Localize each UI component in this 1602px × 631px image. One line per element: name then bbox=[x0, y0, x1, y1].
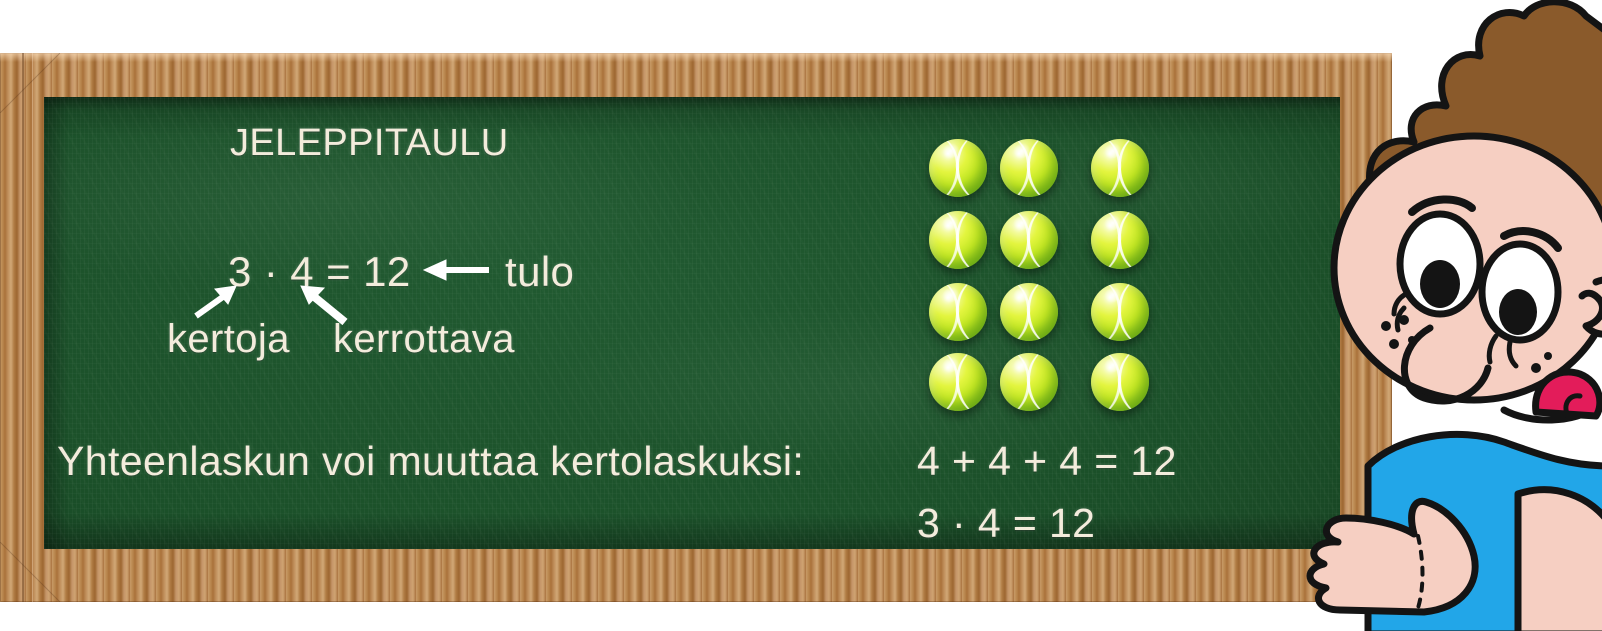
boy-pupil-right bbox=[1499, 289, 1537, 335]
boy-pupil-left bbox=[1420, 260, 1460, 308]
tennis-ball-icon bbox=[1000, 353, 1058, 411]
tennis-ball-icon bbox=[929, 283, 987, 341]
tennis-ball-icon bbox=[929, 353, 987, 411]
slide-canvas: JELEPPITAULU 3 · 4 = 12 tulo kertoja ker… bbox=[0, 0, 1602, 631]
tennis-ball-icon bbox=[1091, 283, 1149, 341]
tennis-ball-icon bbox=[1091, 139, 1149, 197]
tennis-ball-icon bbox=[929, 211, 987, 269]
tennis-ball-icon bbox=[1000, 211, 1058, 269]
cartoon-boy-illustration bbox=[1218, 0, 1602, 631]
tennis-ball-icon bbox=[1000, 283, 1058, 341]
boy-arm bbox=[1518, 490, 1602, 631]
tennis-ball-icon bbox=[1000, 139, 1058, 197]
tennis-ball-icon bbox=[1091, 211, 1149, 269]
tennis-ball-icon bbox=[929, 139, 987, 197]
tennis-ball-icon bbox=[1091, 353, 1149, 411]
